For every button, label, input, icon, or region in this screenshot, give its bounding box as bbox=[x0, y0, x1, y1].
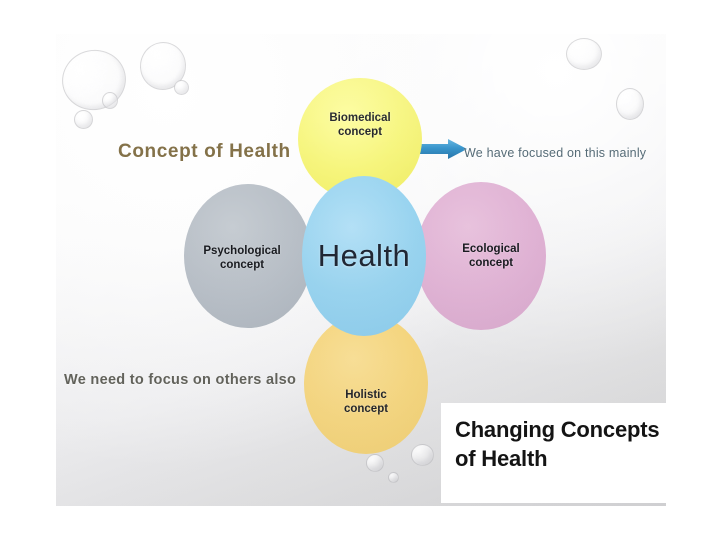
circle-holistic-label: Holistic concept bbox=[344, 388, 388, 417]
circle-health-label: Health bbox=[318, 237, 411, 276]
circle-psychological-concept: Psychological concept bbox=[184, 184, 312, 328]
water-bubble-icon bbox=[74, 110, 93, 129]
circle-ecological-concept: Ecological concept bbox=[416, 182, 546, 330]
water-bubble-icon bbox=[566, 38, 602, 70]
water-bubble-icon bbox=[102, 92, 118, 109]
water-bubble-icon bbox=[56, 44, 131, 116]
water-bubble-icon bbox=[366, 454, 384, 472]
water-bubble-icon bbox=[174, 80, 189, 95]
circle-ecological-label: Ecological concept bbox=[462, 242, 520, 271]
water-bubble-icon bbox=[616, 88, 644, 120]
circle-biomedical-label: Biomedical concept bbox=[329, 111, 390, 140]
slide-image-container: Concept of Health We need to focus on ot… bbox=[0, 0, 720, 539]
note-focused-mainly: We have focused on this mainly bbox=[464, 146, 646, 160]
right-arrow-icon bbox=[416, 138, 468, 160]
slide-heading: Concept of Health bbox=[118, 141, 291, 163]
circle-health-center: Health bbox=[302, 176, 426, 336]
water-bubble-icon bbox=[411, 444, 434, 466]
caption-panel: Changing Concepts of Health bbox=[441, 403, 720, 503]
circle-psychological-label: Psychological concept bbox=[203, 244, 280, 273]
note-focus-on-others: We need to focus on others also bbox=[64, 372, 296, 388]
water-bubble-icon bbox=[388, 472, 399, 483]
caption-title: Changing Concepts of Health bbox=[455, 415, 720, 473]
